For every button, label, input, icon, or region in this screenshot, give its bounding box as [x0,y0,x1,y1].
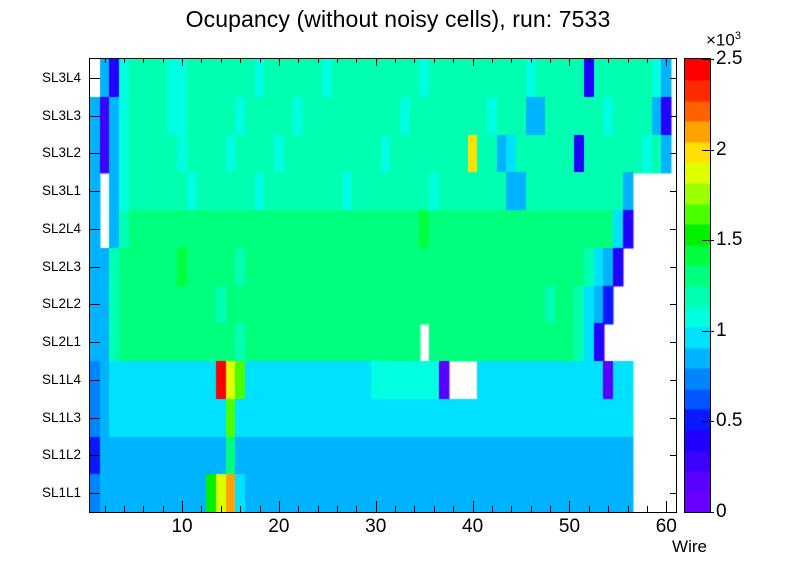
colorbar-tick [702,59,714,60]
x-tick-label: 20 [249,516,309,538]
x-tick-top [260,58,261,63]
y-tick-label-sl2l1: SL2L1 [11,334,81,349]
colorbar-exponent-power: 3 [735,30,741,42]
y-tick [89,229,100,230]
x-tick-label: 30 [346,516,406,538]
x-axis-title: Wire [672,537,707,557]
y-tick-right [670,229,676,230]
x-tick-minor [647,506,648,512]
x-tick-minor [453,506,454,512]
colorbar [684,58,711,513]
y-tick-label-sl2l3: SL2L3 [11,259,81,274]
x-tick-top [182,58,183,66]
x-tick-top [124,58,125,63]
heatmap-canvas [90,59,676,512]
x-tick-top [279,58,280,66]
y-tick [89,380,100,381]
x-tick-minor [163,506,164,512]
x-tick-label: 10 [152,516,212,538]
y-tick-label-sl3l3: SL3L3 [11,108,81,123]
x-tick-minor [260,506,261,512]
x-tick-minor [628,506,629,512]
x-tick-label: 50 [539,516,599,538]
y-tick-right [670,455,676,456]
x-tick-major [182,501,183,512]
x-tick-minor [356,506,357,512]
x-tick-major [666,501,667,512]
x-tick-top [628,58,629,63]
y-tick [89,78,100,79]
x-tick-minor [124,506,125,512]
y-tick-label-sl3l2: SL3L2 [11,145,81,160]
y-tick-right [670,153,676,154]
x-tick-major [279,501,280,512]
x-tick-top [143,58,144,63]
x-tick-minor [240,506,241,512]
x-tick-top [473,58,474,66]
x-tick-top [163,58,164,63]
root-canvas: Ocupancy (without noisy cells), run: 753… [0,0,796,572]
y-tick [89,342,100,343]
y-tick-right [670,78,676,79]
y-tick-right [670,304,676,305]
y-tick-label-sl1l1: SL1L1 [11,485,81,500]
y-tick [89,116,100,117]
x-tick-major [376,501,377,512]
y-tick-label-sl1l4: SL1L4 [11,372,81,387]
x-tick-top [221,58,222,63]
y-tick [89,153,100,154]
x-tick-top [666,58,667,66]
y-tick [89,455,100,456]
x-tick-top [453,58,454,63]
x-tick-top [492,58,493,63]
y-tick-right [670,191,676,192]
x-tick-label: 40 [443,516,503,538]
x-tick-minor [434,506,435,512]
y-tick-right [670,380,676,381]
colorbar-tick-label: 1 [716,321,727,340]
x-tick-minor [221,506,222,512]
x-tick-top [608,58,609,63]
x-tick-top [201,58,202,63]
x-tick-minor [318,506,319,512]
x-tick-top [569,58,570,66]
x-tick-top [337,58,338,63]
y-tick-label-sl2l2: SL2L2 [11,296,81,311]
x-tick-minor [531,506,532,512]
y-tick-label-sl3l4: SL3L4 [11,70,81,85]
y-tick-right [670,418,676,419]
x-tick-minor [550,506,551,512]
page-title: Ocupancy (without noisy cells), run: 753… [0,6,796,33]
x-tick-top [531,58,532,63]
x-tick-minor [511,506,512,512]
x-tick-top [395,58,396,63]
y-tick-label-sl1l3: SL1L3 [11,410,81,425]
x-tick-label: 60 [636,516,696,538]
x-tick-minor [414,506,415,512]
x-tick-top [318,58,319,63]
x-tick-top [550,58,551,63]
colorbar-tick-label: 2.5 [716,49,742,68]
y-tick-label-sl2l4: SL2L4 [11,221,81,236]
x-tick-major [473,501,474,512]
y-tick-right [670,493,676,494]
y-tick-label-sl3l1: SL3L1 [11,183,81,198]
y-tick [89,493,100,494]
y-tick-right [670,267,676,268]
x-tick-top [105,58,106,63]
colorbar-tick [702,150,714,151]
colorbar-canvas [685,59,710,512]
colorbar-tick [702,421,714,422]
x-tick-minor [608,506,609,512]
x-tick-minor [143,506,144,512]
colorbar-exponent-base: ×10 [706,31,735,50]
colorbar-tick [702,331,714,332]
y-tick-right [670,116,676,117]
colorbar-tick [702,512,714,513]
y-tick [89,418,100,419]
x-tick-top [240,58,241,63]
y-tick-label-sl1l2: SL1L2 [11,447,81,462]
x-tick-major [569,501,570,512]
colorbar-tick-label: 0.5 [716,411,742,430]
x-tick-top [647,58,648,63]
y-tick [89,191,100,192]
x-tick-minor [337,506,338,512]
x-tick-top [511,58,512,63]
x-tick-top [589,58,590,63]
colorbar-tick-label: 0 [716,502,727,521]
colorbar-tick-label: 2 [716,140,727,159]
x-tick-top [298,58,299,63]
y-tick [89,267,100,268]
x-tick-minor [105,506,106,512]
x-tick-top [434,58,435,63]
colorbar-tick [702,240,714,241]
x-tick-minor [395,506,396,512]
x-tick-minor [201,506,202,512]
x-tick-minor [589,506,590,512]
y-tick-right [670,342,676,343]
x-tick-top [376,58,377,66]
x-tick-minor [492,506,493,512]
x-tick-minor [298,506,299,512]
heatmap-plot-area [89,58,677,513]
x-tick-top [414,58,415,63]
x-tick-top [356,58,357,63]
y-tick [89,304,100,305]
colorbar-tick-label: 1.5 [716,230,742,249]
